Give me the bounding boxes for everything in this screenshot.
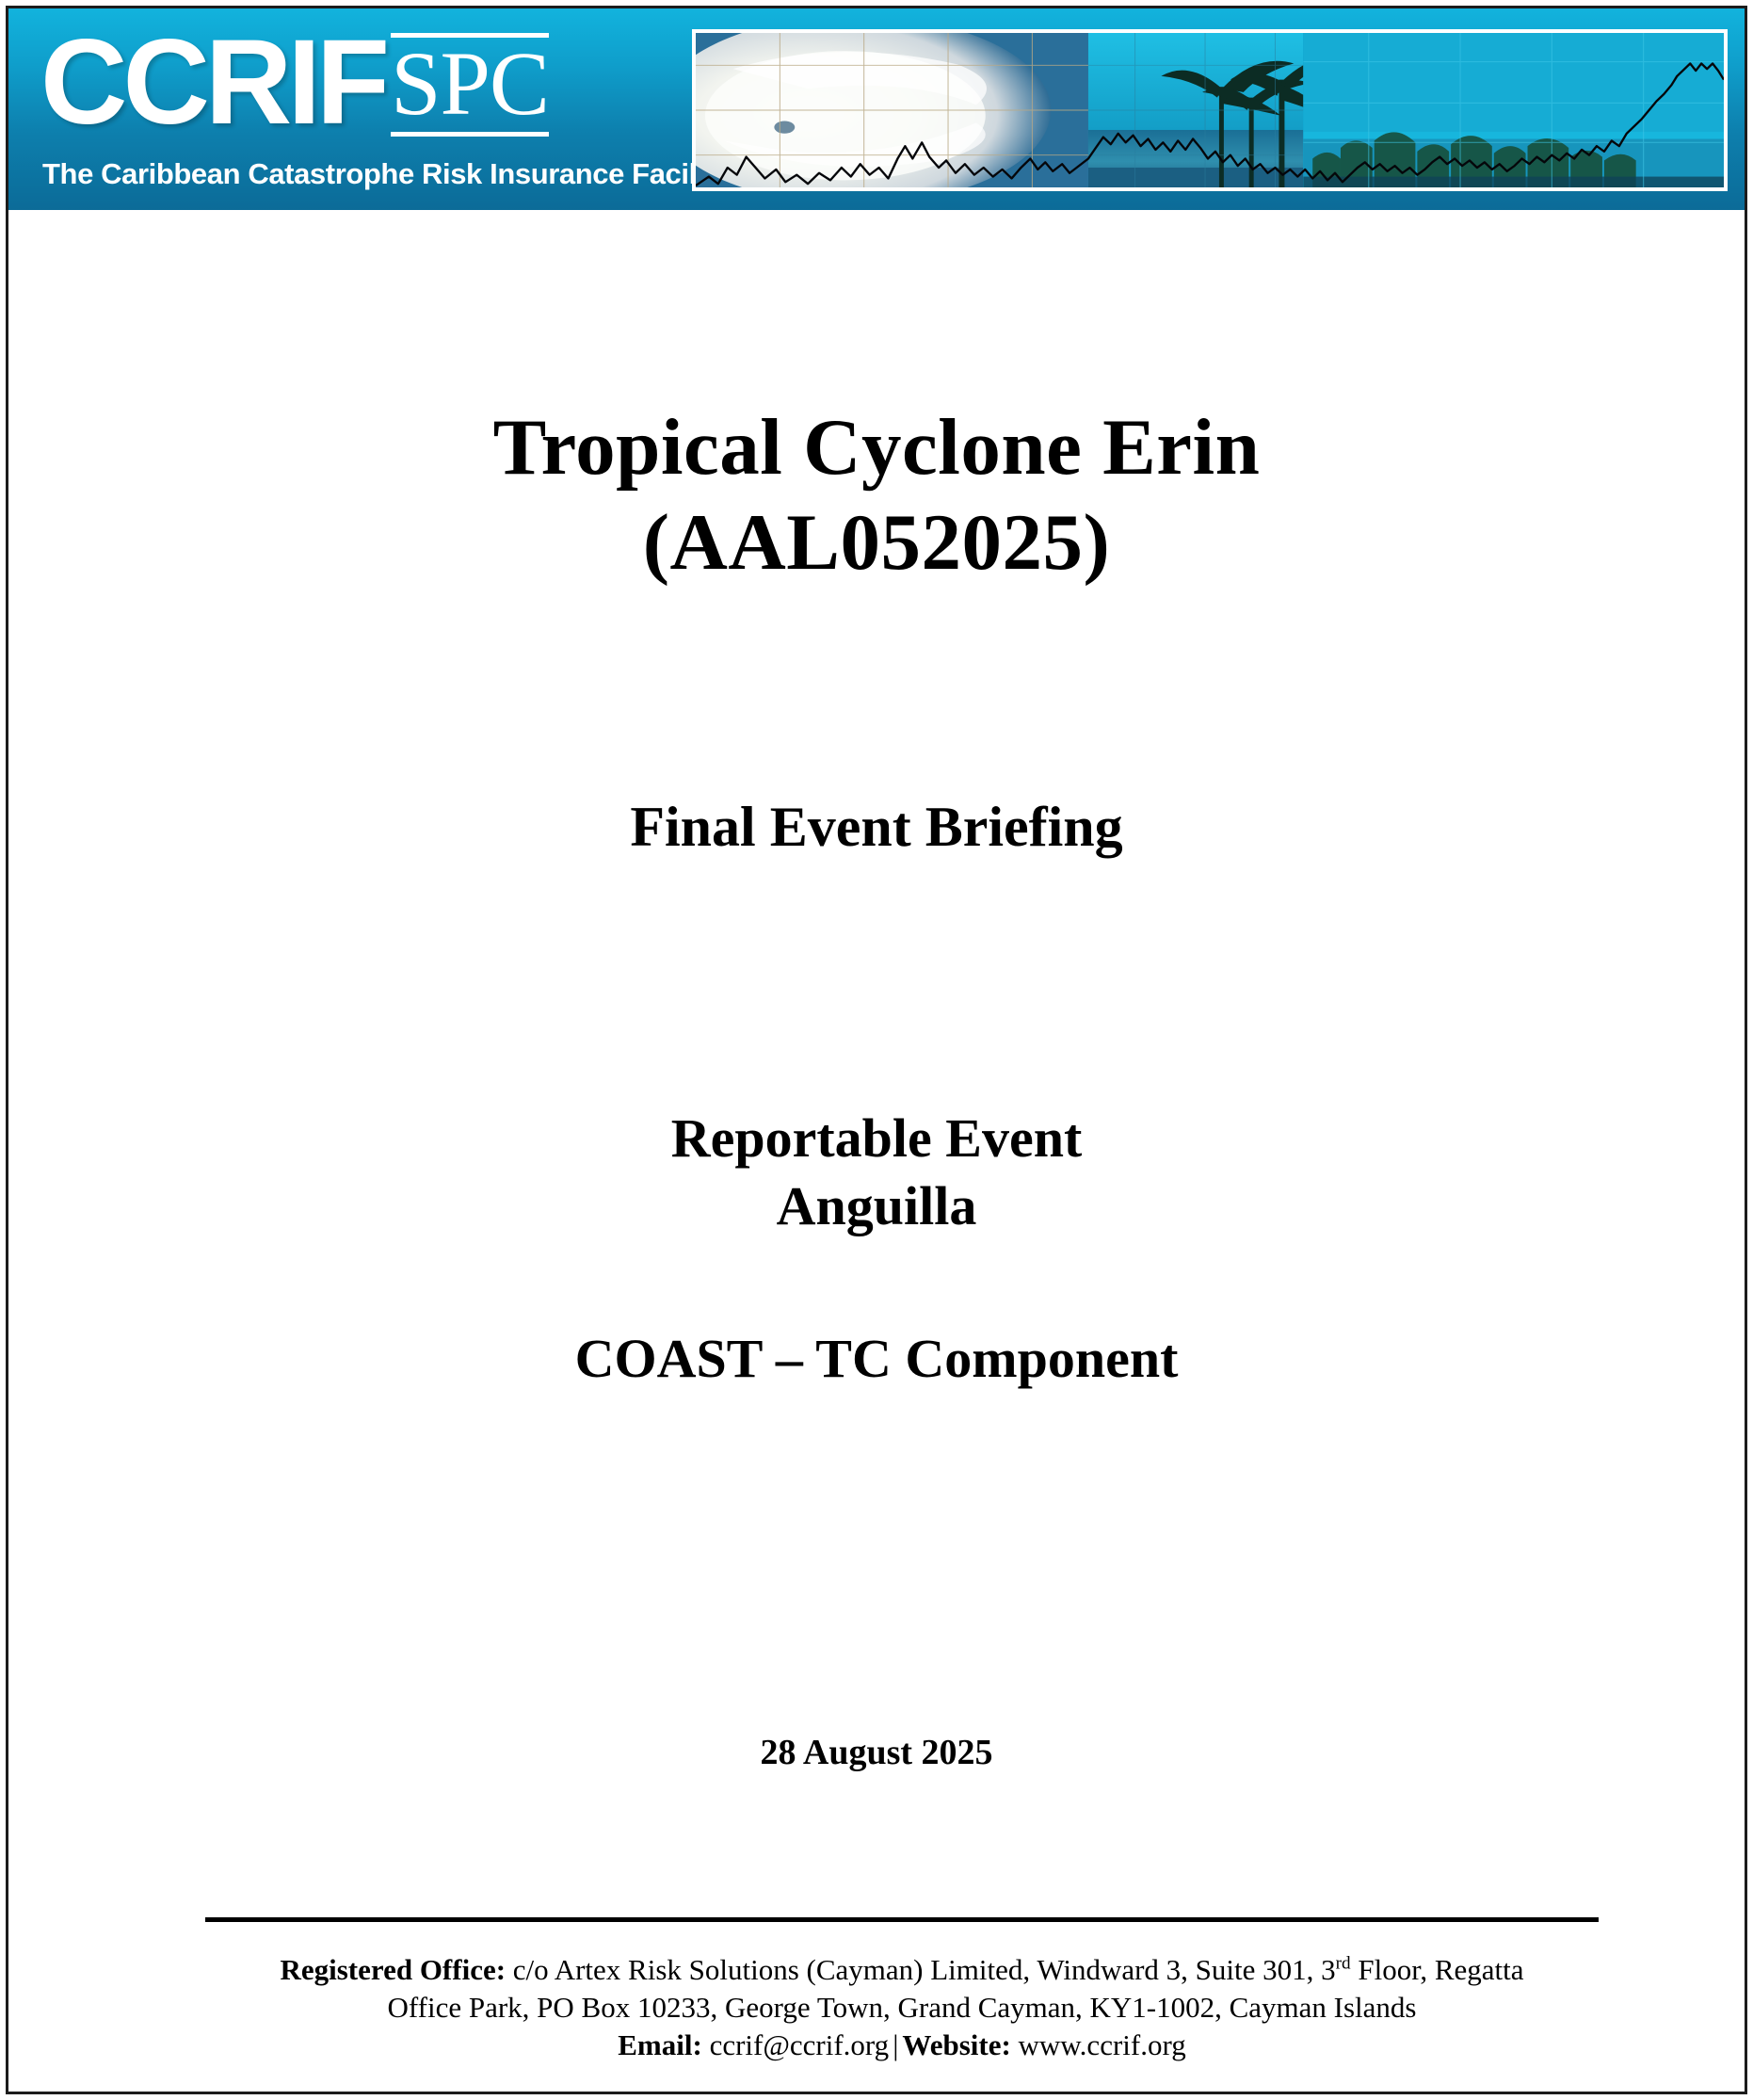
email-address[interactable]: ccrif@ccrif.org — [710, 2028, 890, 2061]
website-label: Website: — [902, 2028, 1010, 2061]
footer-divider — [205, 1917, 1599, 1922]
document-subtitle: Final Event Briefing — [0, 794, 1753, 860]
product-component: COAST – TC Component — [0, 1326, 1753, 1392]
logo-spc-rules: SPC — [391, 33, 549, 137]
logo-tagline: The Caribbean Catastrophe Risk Insurance… — [42, 157, 730, 191]
header-banner-image — [692, 29, 1728, 191]
palm-trees-panel — [1088, 33, 1341, 187]
cover-content: Tropical Cyclone Erin (AAL052025) Final … — [0, 210, 1753, 1886]
logo-wordmark: CCRIF SPC — [40, 27, 549, 138]
event-block: Reportable Event Anguilla — [0, 1105, 1753, 1240]
registered-office-label: Registered Office: — [280, 1953, 506, 1986]
ordinal-suffix: rd — [1336, 1954, 1351, 1974]
event-type-label: Reportable Event — [671, 1107, 1083, 1169]
hurricane-satellite-panel — [696, 33, 1088, 187]
footer-contact-line: Email: ccrif@ccrif.org|Website: www.ccri… — [205, 2027, 1599, 2064]
footer-separator: | — [889, 2028, 902, 2061]
header-band: CCRIF SPC The Caribbean Catastrophe Risk… — [8, 8, 1745, 210]
registered-office-value: c/o Artex Risk Solutions (Cayman) Limite… — [513, 1953, 1336, 1986]
logo-ccrif-text: CCRIF — [40, 27, 385, 138]
logo-spc-text: SPC — [391, 39, 549, 129]
page-title: Tropical Cyclone Erin (AAL052025) — [0, 400, 1753, 590]
title-line-1: Tropical Cyclone Erin — [493, 403, 1261, 492]
document-page: CCRIF SPC The Caribbean Catastrophe Risk… — [0, 0, 1753, 2100]
footer-text: Registered Office: c/o Artex Risk Soluti… — [205, 1951, 1599, 2064]
event-country: Anguilla — [0, 1172, 1753, 1240]
website-url[interactable]: www.ccrif.org — [1019, 2028, 1186, 2061]
banner-illustration — [696, 33, 1724, 187]
footer-address-line-2: Office Park, PO Box 10233, George Town, … — [205, 1989, 1599, 2027]
footer-address-line-1: Registered Office: c/o Artex Risk Soluti… — [205, 1951, 1599, 1989]
title-line-2: (AAL052025) — [0, 495, 1753, 590]
ccrif-logo: CCRIF SPC The Caribbean Catastrophe Risk… — [29, 22, 679, 201]
document-date: 28 August 2025 — [0, 1731, 1753, 1774]
registered-office-tail: Floor, Regatta — [1351, 1953, 1524, 1986]
email-label: Email: — [618, 2028, 702, 2061]
